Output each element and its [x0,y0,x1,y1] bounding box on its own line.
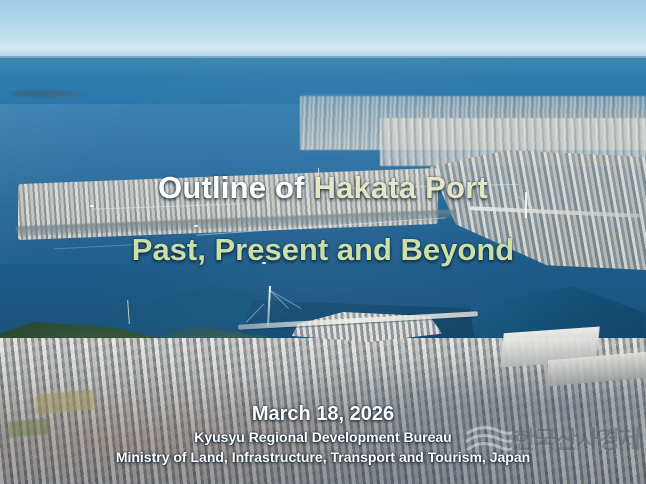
small-island-secondary [44,93,84,98]
organization-name: Kyusyu Regional Development Bureau [0,427,646,447]
presentation-date: March 18, 2026 [0,402,646,427]
title-line-subtitle: Past, Present and Beyond [0,230,646,270]
title-line-primary: Outline of Hakata Port [0,168,646,208]
title-prefix: Outline of [158,170,313,205]
footer-block: March 18, 2026 Kyusyu Regional Developme… [0,402,646,467]
title-slide: Outline of Hakata Port Past, Present and… [0,0,646,484]
title-block: Outline of Hakata Port Past, Present and… [0,168,646,270]
title-subject: Hakata Port [313,170,488,205]
ministry-name: Ministry of Land, Infrastructure, Transp… [0,447,646,467]
